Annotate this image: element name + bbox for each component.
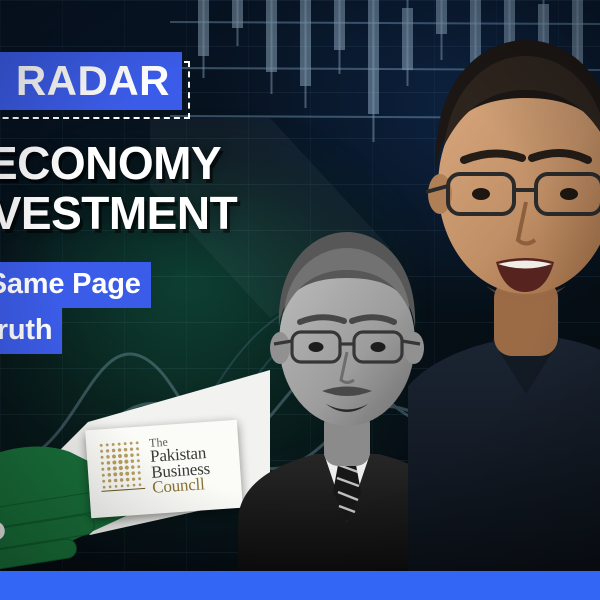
bottom-accent-bar: [0, 571, 600, 600]
pakistan-business-council-logo: The Pakistan Business Councll: [85, 420, 243, 518]
headline-line-2: NVESTMENT: [0, 190, 237, 236]
subheadline-line-2: er Truth: [0, 308, 62, 354]
logo-council-label: Councll: [152, 476, 212, 496]
headline-line-1: N ECONOMY: [0, 140, 221, 186]
radar-badge-chip: RADAR: [0, 52, 182, 110]
video-thumbnail: The Pakistan Business Councll: [0, 0, 600, 600]
radar-badge-label: RADAR: [16, 60, 170, 102]
logo-dot-grid-icon: [98, 438, 146, 493]
subheadline-line-1: On Same Page: [0, 262, 151, 308]
portrait-right: [408, 18, 600, 578]
radar-badge: RADAR: [0, 52, 182, 110]
